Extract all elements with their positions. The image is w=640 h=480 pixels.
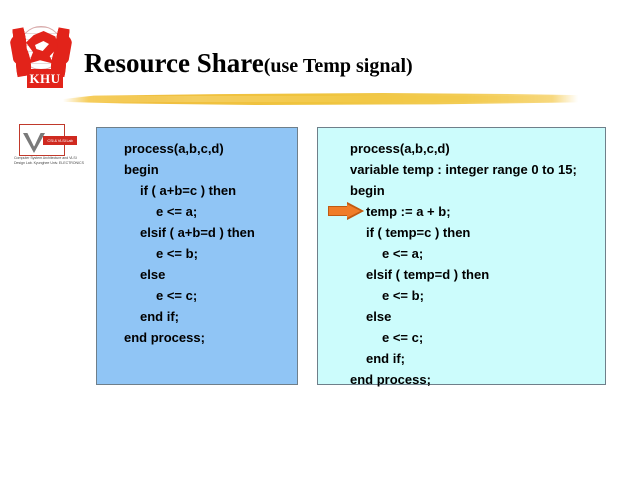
arrow-shaft	[328, 206, 349, 216]
code-right-line: e <= a;	[350, 243, 605, 264]
lab-logo-tag: CSI & VLSI Lab	[43, 136, 77, 145]
title-block: Resource Share(use Temp signal)	[84, 46, 614, 83]
code-left-line: process(a,b,c,d)	[97, 138, 297, 159]
code-left-line: e <= b;	[129, 243, 297, 264]
code-right-line: process(a,b,c,d)	[318, 138, 605, 159]
code-left-line: end process;	[97, 327, 297, 348]
code-left-line: if ( a+b=c ) then	[113, 180, 297, 201]
khu-emblem-icon: KHU	[13, 22, 75, 88]
title-main-text: Resource Share	[84, 48, 264, 78]
code-right-line: e <= b;	[350, 285, 605, 306]
arrow-right-icon	[328, 202, 364, 220]
code-block-with-temp: process(a,b,c,d)variable temp : integer …	[317, 127, 606, 385]
code-left-line: elsif ( a+b=d ) then	[113, 222, 297, 243]
code-right-line: else	[334, 306, 605, 327]
code-left-line: end if;	[113, 306, 297, 327]
code-right-line: temp := a + b;	[334, 201, 605, 222]
code-right-line: end if;	[334, 348, 605, 369]
code-left-line: begin	[97, 159, 297, 180]
code-right-line: e <= c;	[350, 327, 605, 348]
code-right-line: variable temp : integer range 0 to 15;	[318, 159, 605, 180]
lab-logo: CSI & VLSI Lab Computer System Architect…	[14, 124, 88, 176]
slide-canvas: KHU Resource Share(use Temp signal) CSI …	[0, 0, 640, 480]
lab-logo-caption: Computer System Architecture and VLSI De…	[14, 156, 88, 166]
khu-wordmark: KHU	[27, 69, 63, 88]
code-right-line: begin	[318, 180, 605, 201]
title-sub-text: (use Temp signal)	[264, 55, 413, 77]
page-title: Resource Share(use Temp signal)	[84, 46, 614, 83]
code-block-without-temp: process(a,b,c,d)beginif ( a+b=c ) thene …	[96, 127, 298, 385]
code-right-line: end process;	[318, 369, 605, 390]
lab-logo-tag-label: CSI & VLSI Lab	[43, 136, 77, 145]
code-right-line: if ( temp=c ) then	[334, 222, 605, 243]
code-right-line: elsif ( temp=d ) then	[334, 264, 605, 285]
gold-brush-underline-highlight	[70, 96, 570, 102]
code-left-line: else	[113, 264, 297, 285]
code-left-line: e <= c;	[129, 285, 297, 306]
code-left-line: e <= a;	[129, 201, 297, 222]
